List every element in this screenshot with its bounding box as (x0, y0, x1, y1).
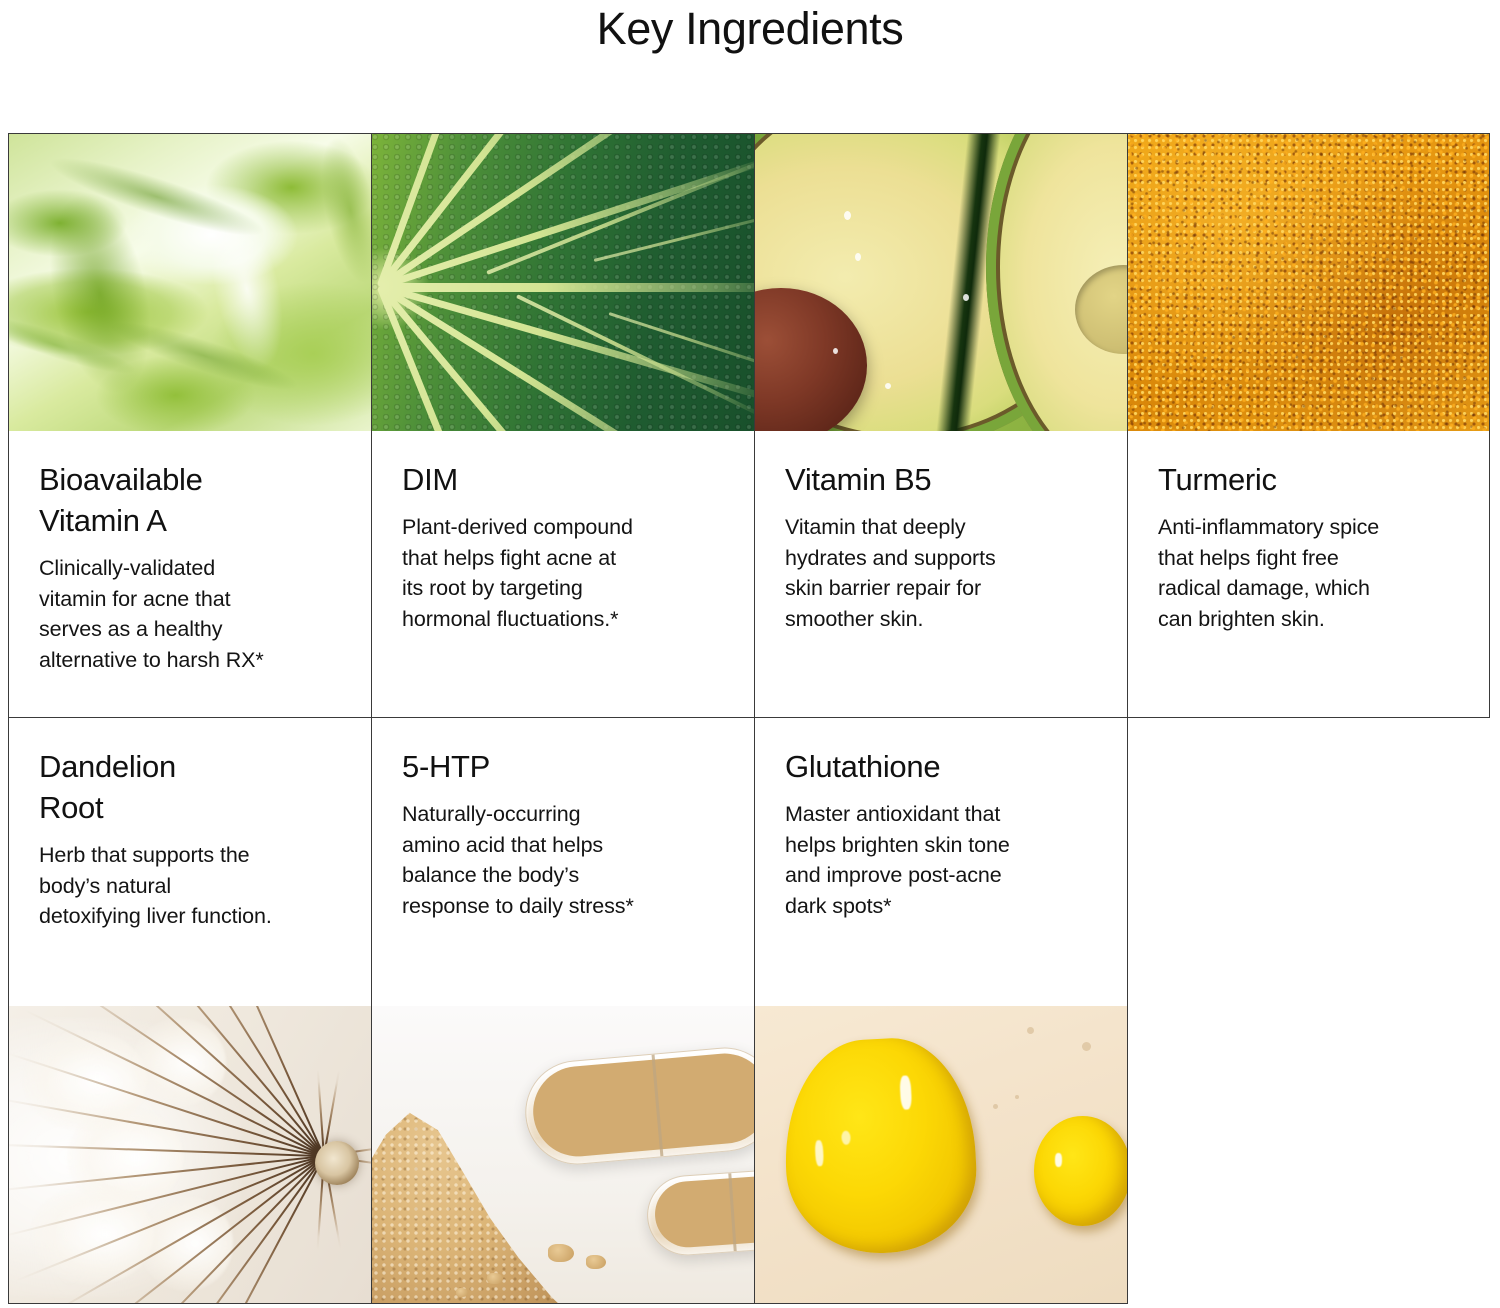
ingredient-description: Herb that supports the body’s natural de… (39, 840, 341, 932)
ingredient-card-dandelion-root[interactable]: Dandelion Root Herb that supports the bo… (8, 718, 372, 1304)
ingredient-image-savoy-cabbage-leaf (372, 134, 754, 431)
ingredient-name: DIM (402, 459, 724, 500)
key-ingredients-page: Key Ingredients Bioavailable Vitamin A C… (0, 0, 1500, 1308)
ingredient-card-text: DIM Plant-derived compound that helps fi… (372, 431, 754, 717)
capsule-icon (521, 1043, 754, 1169)
ingredient-card-vitamin-b5[interactable]: Vitamin B5 Vitamin that deeply hydrates … (755, 133, 1128, 718)
dandelion-center (315, 1141, 359, 1185)
ingredient-image-turmeric-powder (1128, 134, 1489, 431)
ingredient-image-avocado-halves (755, 134, 1127, 431)
ingredients-grid: Bioavailable Vitamin A Clinically-valida… (8, 133, 1490, 1304)
ingredient-description: Anti-inflammatory spice that helps fight… (1158, 512, 1459, 634)
ingredient-card-glutathione[interactable]: Glutathione Master antioxidant that help… (755, 718, 1128, 1304)
ingredient-card-text: Vitamin B5 Vitamin that deeply hydrates … (755, 431, 1127, 717)
ingredient-card-dim[interactable]: DIM Plant-derived compound that helps fi… (372, 133, 755, 718)
empty-grid-cell (1128, 718, 1490, 1304)
ingredient-description: Plant-derived compound that helps fight … (402, 512, 724, 634)
oil-droplet-small (1034, 1116, 1127, 1226)
ingredient-card-bioavailable-vitamin-a[interactable]: Bioavailable Vitamin A Clinically-valida… (8, 133, 372, 718)
leaf-veins (372, 134, 754, 431)
ingredient-description: Clinically-validated vitamin for acne th… (39, 553, 341, 675)
ingredient-card-text: Glutathione Master antioxidant that help… (755, 718, 1127, 1006)
ingredient-image-powder-and-capsules (372, 1006, 754, 1303)
ingredient-card-text: 5-HTP Naturally-occurring amino acid tha… (372, 718, 754, 1006)
page-title: Key Ingredients (0, 0, 1500, 62)
ingredient-name: Turmeric (1158, 459, 1459, 500)
ingredient-card-text: Dandelion Root Herb that supports the bo… (9, 718, 371, 1006)
ingredient-name: Glutathione (785, 746, 1097, 787)
ingredient-name: Vitamin B5 (785, 459, 1097, 500)
ingredient-image-green-cabbage-leaf (9, 134, 371, 431)
ingredient-card-text: Turmeric Anti-inflammatory spice that he… (1128, 431, 1489, 717)
ingredient-image-yellow-oil-droplets (755, 1006, 1127, 1303)
ingredient-description: Vitamin that deeply hydrates and support… (785, 512, 1097, 634)
ingredient-name: Bioavailable Vitamin A (39, 459, 341, 541)
ingredient-card-turmeric[interactable]: Turmeric Anti-inflammatory spice that he… (1128, 133, 1490, 718)
ingredient-description: Naturally-occurring amino acid that help… (402, 799, 724, 921)
ingredient-name: Dandelion Root (39, 746, 341, 828)
ingredient-card-text: Bioavailable Vitamin A Clinically-valida… (9, 431, 371, 717)
ingredient-card-5-htp[interactable]: 5-HTP Naturally-occurring amino acid tha… (372, 718, 755, 1304)
ingredient-name: 5-HTP (402, 746, 724, 787)
ingredient-description: Master antioxidant that helps brighten s… (785, 799, 1097, 921)
capsule-icon (644, 1166, 754, 1258)
ingredient-image-dandelion-seedhead (9, 1006, 371, 1303)
oil-droplet-large (779, 1034, 980, 1257)
